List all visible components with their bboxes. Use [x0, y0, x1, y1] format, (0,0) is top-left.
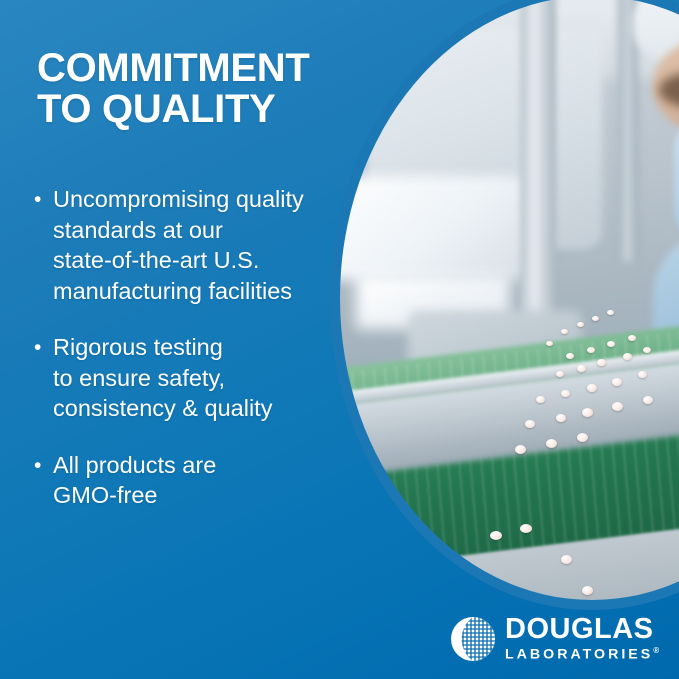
benefit-list: • Uncompromising quality standards at ou… — [34, 184, 346, 537]
list-item-text: Rigorous testing to ensure safety, consi… — [53, 332, 272, 424]
tablet — [490, 531, 502, 540]
bullet-icon: • — [34, 332, 53, 424]
list-item: • All products are GMO-free — [34, 450, 346, 511]
brand-subname-text: LABORATORIES — [505, 647, 653, 663]
list-item-line: Rigorous testing — [53, 332, 272, 363]
list-item-line: consistency & quality — [53, 393, 272, 424]
list-item-line: Uncompromising quality — [53, 184, 304, 215]
list-item-line: to ensure safety, — [53, 363, 272, 394]
marketing-graphic: COMMITMENT TO QUALITY • Uncompromising q… — [0, 0, 679, 679]
list-item-text: Uncompromising quality standards at our … — [53, 184, 304, 306]
tablet — [536, 396, 545, 403]
list-item: • Rigorous testing to ensure safety, con… — [34, 332, 346, 424]
tablet — [515, 445, 526, 454]
brand-name: DOUGLAS — [505, 616, 659, 643]
photo-light-panel — [336, 176, 531, 280]
headline-line-2: TO QUALITY — [37, 89, 367, 130]
brand-logo-text: DOUGLAS LABORATORIES® — [505, 616, 659, 663]
tablet — [577, 433, 588, 442]
douglas-grid-circle-icon — [450, 616, 496, 662]
tablet — [561, 329, 568, 334]
trademark-symbol: ® — [653, 646, 659, 655]
tablet — [623, 353, 632, 360]
tablet — [561, 390, 570, 397]
list-item-line: GMO-free — [53, 480, 216, 511]
headline-line-1: COMMITMENT — [37, 48, 367, 89]
tablet — [587, 384, 597, 392]
bullet-icon: • — [34, 450, 53, 511]
list-item: • Uncompromising quality standards at ou… — [34, 184, 346, 306]
list-item-line: manufacturing facilities — [53, 276, 304, 307]
tablet — [587, 347, 595, 353]
tablet — [628, 335, 636, 341]
tablet — [546, 439, 557, 448]
page-title: COMMITMENT TO QUALITY — [37, 48, 367, 130]
list-item-line: standards at our — [53, 215, 304, 246]
bullet-icon: • — [34, 184, 53, 306]
tablet — [582, 408, 593, 417]
tablet — [582, 586, 593, 595]
manufacturing-photo — [336, 0, 679, 604]
tablet — [612, 378, 622, 386]
tablet — [577, 365, 586, 372]
list-item-text: All products are GMO-free — [53, 450, 216, 511]
tablet — [546, 341, 553, 346]
list-item-line: state-of-the-art U.S. — [53, 245, 304, 276]
brand-logo: DOUGLAS LABORATORIES® — [450, 616, 659, 663]
brand-subname: LABORATORIES® — [505, 643, 659, 663]
list-item-line: All products are — [53, 450, 216, 481]
